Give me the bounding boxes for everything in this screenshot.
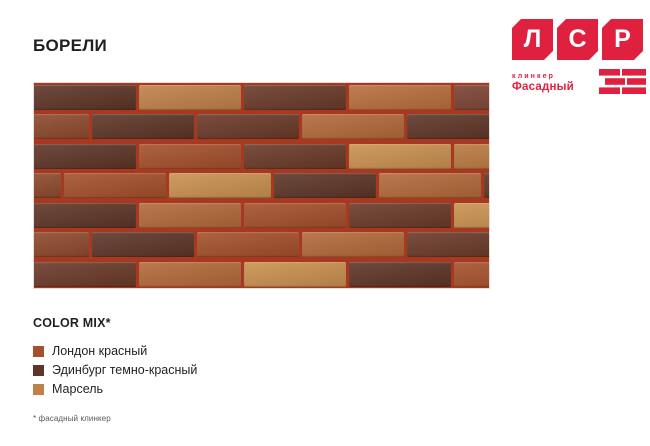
brick-tile — [34, 173, 61, 198]
logo-letter-s: С — [557, 19, 598, 60]
legend-label-marseille: Марсель — [52, 382, 103, 396]
legend-label-edinburgh: Эдинбург темно-красный — [52, 363, 197, 377]
footnote: * фасадный клинкер — [33, 414, 111, 423]
brick-row — [34, 172, 489, 202]
brick-row — [34, 231, 489, 261]
legend-swatch-marseille — [33, 384, 44, 395]
brick-tile — [34, 144, 136, 169]
brick-tile — [139, 203, 241, 228]
brick-wall-image — [33, 82, 490, 289]
logo-tagline: клинкер Фасадный — [512, 73, 574, 95]
brick-tile — [454, 262, 489, 287]
logo-letter-r: Р — [602, 19, 643, 60]
brick-tile — [407, 232, 489, 257]
legend-item: Лондон красный — [33, 342, 333, 360]
brick-tile — [244, 144, 346, 169]
brick-tile — [349, 203, 451, 228]
brick-tile — [34, 262, 136, 287]
brick-tile — [484, 173, 489, 198]
legend-item: Марсель — [33, 380, 333, 398]
brick-tile — [139, 144, 241, 169]
brick-tile — [64, 173, 166, 198]
brick-tile — [197, 114, 299, 139]
brick-tile — [302, 114, 404, 139]
brick-row — [34, 142, 489, 172]
brick-row — [34, 113, 489, 143]
logo-tagline-row: клинкер Фасадный — [512, 69, 646, 95]
lsr-logo: Л С Р клинкер Фасадный — [512, 19, 646, 95]
legend-label-london: Лондон красный — [52, 344, 147, 358]
brick-tile — [92, 114, 194, 139]
logo-tagline-top: клинкер — [512, 73, 574, 81]
brick-row — [34, 83, 489, 113]
brick-tile — [349, 262, 451, 287]
brick-row — [34, 260, 489, 289]
logo-letter-marks: Л С Р — [512, 19, 646, 60]
brick-tile — [197, 232, 299, 257]
brick-tile — [454, 203, 489, 228]
colormix-heading: COLOR MIX* — [33, 316, 111, 330]
brick-tile — [274, 173, 376, 198]
brick-tile — [169, 173, 271, 198]
logo-letter-l: Л — [512, 19, 553, 60]
brick-tile — [244, 85, 346, 110]
brick-tile — [244, 203, 346, 228]
brick-tile — [349, 144, 451, 169]
legend-swatch-london — [33, 346, 44, 357]
brick-tile — [407, 114, 489, 139]
brick-tile — [302, 232, 404, 257]
brick-tile — [349, 85, 451, 110]
brick-row — [34, 201, 489, 231]
brick-pattern-icon — [599, 69, 646, 94]
legend-swatch-edinburgh — [33, 365, 44, 376]
brick-tile — [34, 232, 89, 257]
brick-tile — [34, 114, 89, 139]
colormix-legend: Лондон красный Эдинбург темно-красный Ма… — [33, 342, 333, 399]
brick-tile — [34, 85, 136, 110]
brick-tile — [379, 173, 481, 198]
brick-tile — [34, 203, 136, 228]
brick-tile — [454, 85, 489, 110]
page-title: БОРЕЛИ — [33, 36, 107, 56]
brick-tile — [454, 144, 489, 169]
brick-tile — [244, 262, 346, 287]
brick-tile — [139, 85, 241, 110]
legend-item: Эдинбург темно-красный — [33, 361, 333, 379]
logo-tagline-bottom: Фасадный — [512, 81, 574, 95]
brick-tile — [139, 262, 241, 287]
brick-tile — [92, 232, 194, 257]
